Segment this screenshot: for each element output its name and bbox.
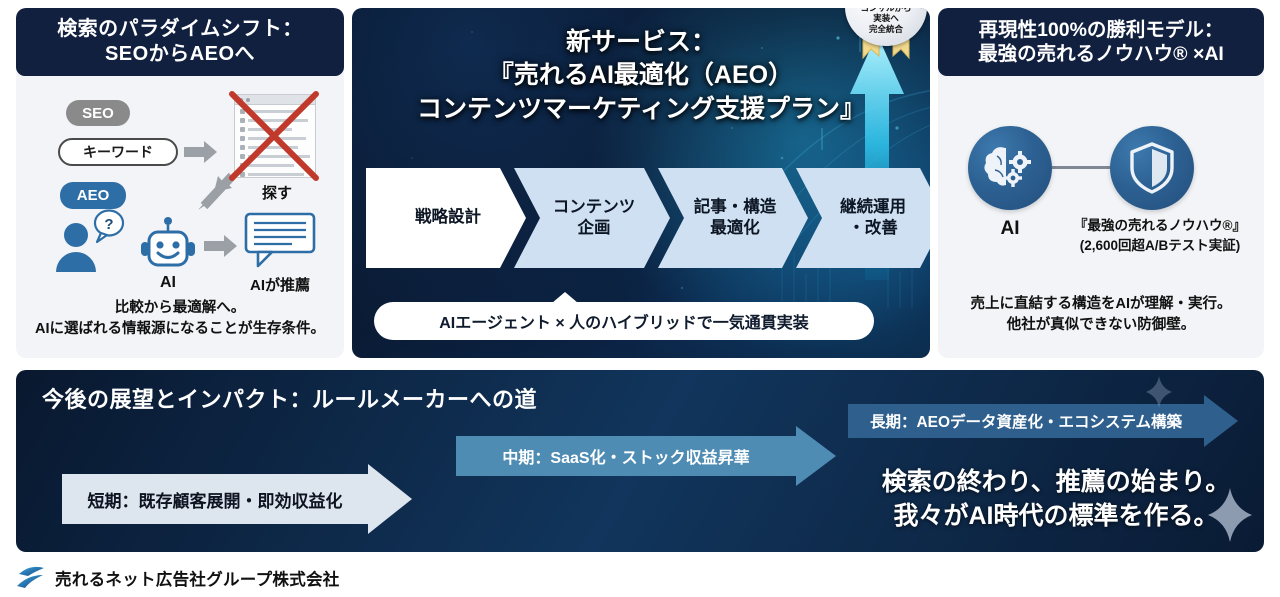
left-panel-diagram: SEO キーワード AEO <box>16 76 344 358</box>
footer: 売れるネット広告社グループ株式会社 <box>16 562 340 594</box>
red-cross-out-icon <box>226 88 322 184</box>
right-panel: 再現性100%の勝利モデル： 最強の売れるノウハウ® ×AI <box>938 8 1264 358</box>
shield-circle <box>1110 126 1194 210</box>
badge-line3: 完全統合 <box>860 24 911 34</box>
timeline-mid-arrowhead <box>796 426 836 486</box>
hybrid-implementation-banner: AIエージェント × 人のハイブリッドで一気通貫実装 <box>374 302 874 340</box>
timeline-mid-label: 中期：SaaS化・ストック収益昇華 <box>456 436 796 476</box>
arrow-right-icon-2 <box>204 234 238 258</box>
ai-recommend-label: AIが推薦 <box>228 274 332 295</box>
integration-badge-circle: コンサルから 実装へ 完全統合 <box>845 8 927 46</box>
arrow-right-icon <box>184 140 218 164</box>
right-panel-diagram: AI 『最強の売れるノウハウ®』 (2,600回超A/Bテスト実証) 売上に直結… <box>938 76 1264 358</box>
process-step-2-label: コンテンツ企画 <box>539 197 646 240</box>
chat-bubble-icon <box>244 212 316 268</box>
right-panel-title-line1: 再現性100%の勝利モデル： <box>978 18 1224 42</box>
timeline-long-arrowhead <box>1204 395 1238 447</box>
bottom-panel: 今後の展望とインパクト：ルールメーカーへの道 短期：既存顧客展開・即効収益化 中… <box>16 370 1264 552</box>
left-note-line2: AIに選ばれる情報源になることが生存条件。 <box>22 319 338 340</box>
process-step-3-label: 記事・構造最適化 <box>680 197 787 240</box>
integration-badge: コンサルから 実装へ 完全統合 <box>845 8 927 64</box>
process-step-4[interactable]: 継続運用・改善 <box>796 168 930 268</box>
center-title-line1: 新サービス： <box>352 26 930 59</box>
sparkle-small-icon <box>1146 376 1172 408</box>
center-panel: 新サービス： 『売れるAI最適化（AEO） コンテンツマーケティング支援プラン』… <box>352 8 930 358</box>
ai-label: AI <box>138 274 198 292</box>
slogan-line2: 我々がAI時代の標準を作る。 <box>836 500 1264 534</box>
left-panel-title-line2: SEOからAEOへ <box>57 42 303 67</box>
left-panel-title-line1: 検索のパラダイムシフト： <box>57 17 303 42</box>
slide-root: 検索のパラダイムシフト： SEOからAEOへ SEO キーワード AEO <box>0 0 1280 597</box>
brain-gears-icon <box>983 142 1037 194</box>
right-panel-header: 再現性100%の勝利モデル： 最強の売れるノウハウ® ×AI <box>938 8 1264 76</box>
timeline-long-label: 長期：AEOデータ資産化・エコシステム構築 <box>848 404 1204 438</box>
closing-slogan: 検索の終わり、推薦の始まり。 我々がAI時代の標準を作る。 <box>836 466 1264 533</box>
search-label: 探す <box>238 182 316 203</box>
process-step-1-label: 戦略設計 <box>401 207 491 228</box>
seo-pill: SEO <box>66 100 130 126</box>
robot-icon <box>140 216 196 274</box>
process-step-1[interactable]: 戦略設計 <box>366 168 526 268</box>
connector-line <box>1052 166 1110 169</box>
company-name: 売れるネット広告社グループ株式会社 <box>55 566 340 590</box>
left-panel: 検索のパラダイムシフト： SEOからAEOへ SEO キーワード AEO <box>16 8 344 358</box>
bottom-panel-title: 今後の展望とインパクト：ルールメーカーへの道 <box>42 382 537 414</box>
timeline-short-arrowhead <box>368 464 412 534</box>
badge-line2: 実装へ <box>860 13 911 23</box>
timeline-arrow-short[interactable]: 短期：既存顧客展開・即効収益化 <box>62 474 412 524</box>
knowhow-caption: 『最強の売れるノウハウ®』 (2,600回超A/Bテスト実証) <box>1060 216 1260 255</box>
process-step-2[interactable]: コンテンツ企画 <box>514 168 670 268</box>
knowhow-line2: (2,600回超A/Bテスト実証) <box>1060 236 1260 256</box>
timeline-arrow-long[interactable]: 長期：AEOデータ資産化・エコシステム構築 <box>848 404 1238 438</box>
company-logo-icon <box>16 566 46 590</box>
aeo-pill: AEO <box>60 182 126 209</box>
knowhow-line1: 『最強の売れるノウハウ®』 <box>1060 216 1260 236</box>
integration-badge-text: コンサルから 実装へ 完全統合 <box>860 8 911 34</box>
svg-text:?: ? <box>104 216 113 233</box>
right-panel-note: 売上に直結する構造をAIが理解・実行。 他社が真似できない防御壁。 <box>944 294 1258 336</box>
process-step-3[interactable]: 記事・構造最適化 <box>658 168 808 268</box>
timeline-arrow-mid[interactable]: 中期：SaaS化・ストック収益昇華 <box>456 436 836 476</box>
hybrid-banner-label: AIエージェント × 人のハイブリッドで一気通貫実装 <box>439 309 809 333</box>
left-panel-note: 比較から最適解へ。 AIに選ばれる情報源になることが生存条件。 <box>22 298 338 339</box>
left-panel-header: 検索のパラダイムシフト： SEOからAEOへ <box>16 8 344 76</box>
right-panel-title-line2: 最強の売れるノウハウ® ×AI <box>978 42 1224 66</box>
right-ai-label: AI <box>968 218 1052 240</box>
ai-brain-circle <box>968 126 1052 210</box>
left-note-line1: 比較から最適解へ。 <box>22 298 338 319</box>
right-note-line2: 他社が真似できない防御壁。 <box>944 315 1258 336</box>
process-step-4-label: 継続運用・改善 <box>826 197 916 240</box>
sparkle-icon <box>1208 488 1252 542</box>
timeline-short-label: 短期：既存顧客展開・即効収益化 <box>62 474 368 524</box>
center-title-line2: 『売れるAI最適化（AEO） <box>352 59 930 92</box>
shield-icon <box>1129 141 1175 195</box>
process-flow: 戦略設計 コンテンツ企画 記事・構造最適化 継続運用・改善 <box>366 168 914 268</box>
question-bubble-icon: ? <box>90 208 126 244</box>
right-note-line1: 売上に直結する構造をAIが理解・実行。 <box>944 294 1258 315</box>
slogan-line1: 検索の終わり、推薦の始まり。 <box>836 466 1264 500</box>
center-title-line3: コンテンツマーケティング支援プラン』 <box>352 93 930 126</box>
center-panel-title: 新サービス： 『売れるAI最適化（AEO） コンテンツマーケティング支援プラン』 <box>352 26 930 126</box>
keyword-pill: キーワード <box>58 138 178 166</box>
